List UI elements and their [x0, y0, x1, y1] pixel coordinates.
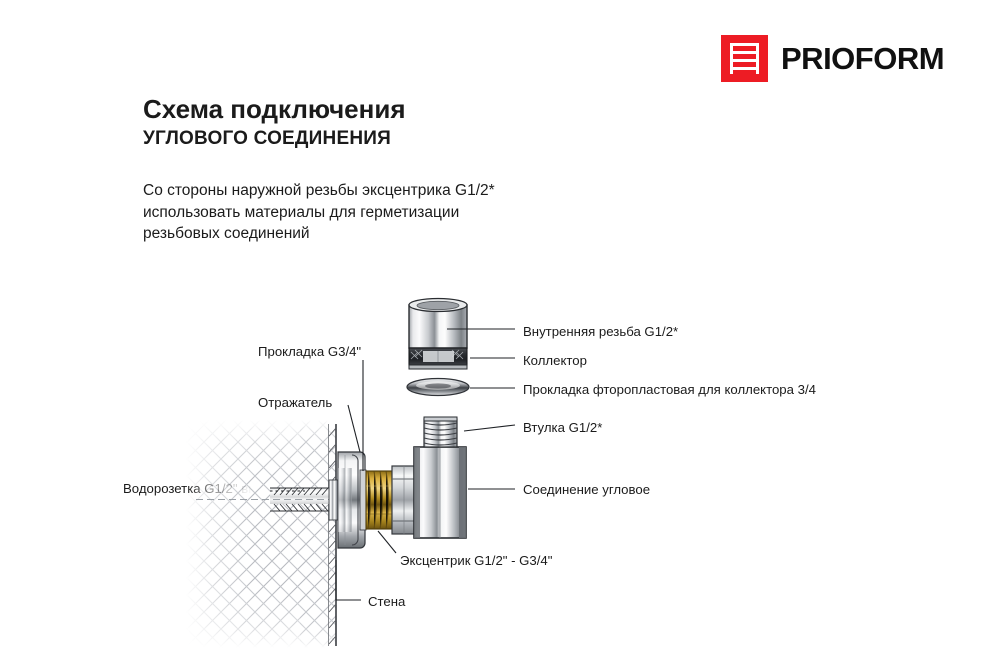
ptfe-gasket-part	[407, 379, 469, 396]
brand-logo: PRIOFORM	[721, 35, 944, 82]
note-line-2: использовать материалы для герметизации	[143, 202, 495, 224]
bushing-thread-rings	[424, 423, 457, 445]
callout-wall: Стена	[368, 595, 405, 608]
note-line-3: резьбовых соединений	[143, 223, 495, 245]
bushing-part	[424, 417, 457, 447]
callout-ptfe-gasket: Прокладка фторопластовая для коллектора …	[523, 383, 816, 396]
escutcheon-part	[338, 452, 365, 548]
collector-part	[409, 299, 467, 370]
page-title: Схема подключения	[143, 94, 406, 125]
leader-eccentric	[378, 531, 396, 553]
eccentric-part	[366, 471, 392, 529]
callout-internal-thread: Внутренняя резьба G1/2*	[523, 325, 678, 338]
callout-water-outlet: Водорозетка G1/2" вн.р.	[123, 482, 270, 495]
wall-face-hatch	[329, 428, 336, 644]
callout-eccentric: Эксцентрик G1/2" - G3/4"	[400, 554, 552, 567]
brand-name: PRIOFORM	[781, 43, 944, 74]
prioform-ladder-mark-icon	[721, 35, 768, 82]
callout-gasket-g34: Прокладка G3/4"	[258, 345, 361, 358]
callout-collector: Коллектор	[523, 354, 587, 367]
leader-lines-right	[447, 329, 515, 489]
outlet-thread-hatch	[274, 488, 328, 495]
callout-escutcheon: Отражатель	[258, 396, 332, 409]
page-subtitle: УГЛОВОГО СОЕДИНЕНИЯ	[143, 128, 391, 150]
hex-nut-part	[392, 466, 416, 534]
connector-tube-part	[416, 476, 444, 524]
wall-section	[186, 420, 336, 648]
eccentric-thread-lines	[368, 471, 389, 529]
diagram-page: PRIOFORM Схема подключения УГЛОВОГО СОЕД…	[0, 0, 1000, 667]
outlet-thread-hatch-lower	[274, 504, 328, 511]
instruction-note: Со стороны наружной резьбы эксцентрика G…	[143, 180, 495, 245]
angle-connection-body	[414, 447, 466, 538]
callout-angle-connection: Соединение угловое	[523, 483, 650, 496]
callout-bushing: Втулка G1/2*	[523, 421, 602, 434]
leader-escutcheon	[348, 405, 360, 452]
note-line-1: Со стороны наружной резьбы эксцентрика G…	[143, 180, 495, 202]
leader-wall	[336, 560, 361, 600]
collector-knurl-hatch	[411, 350, 463, 359]
leader-bushing	[464, 425, 515, 431]
gasket-g34-part	[360, 470, 366, 530]
